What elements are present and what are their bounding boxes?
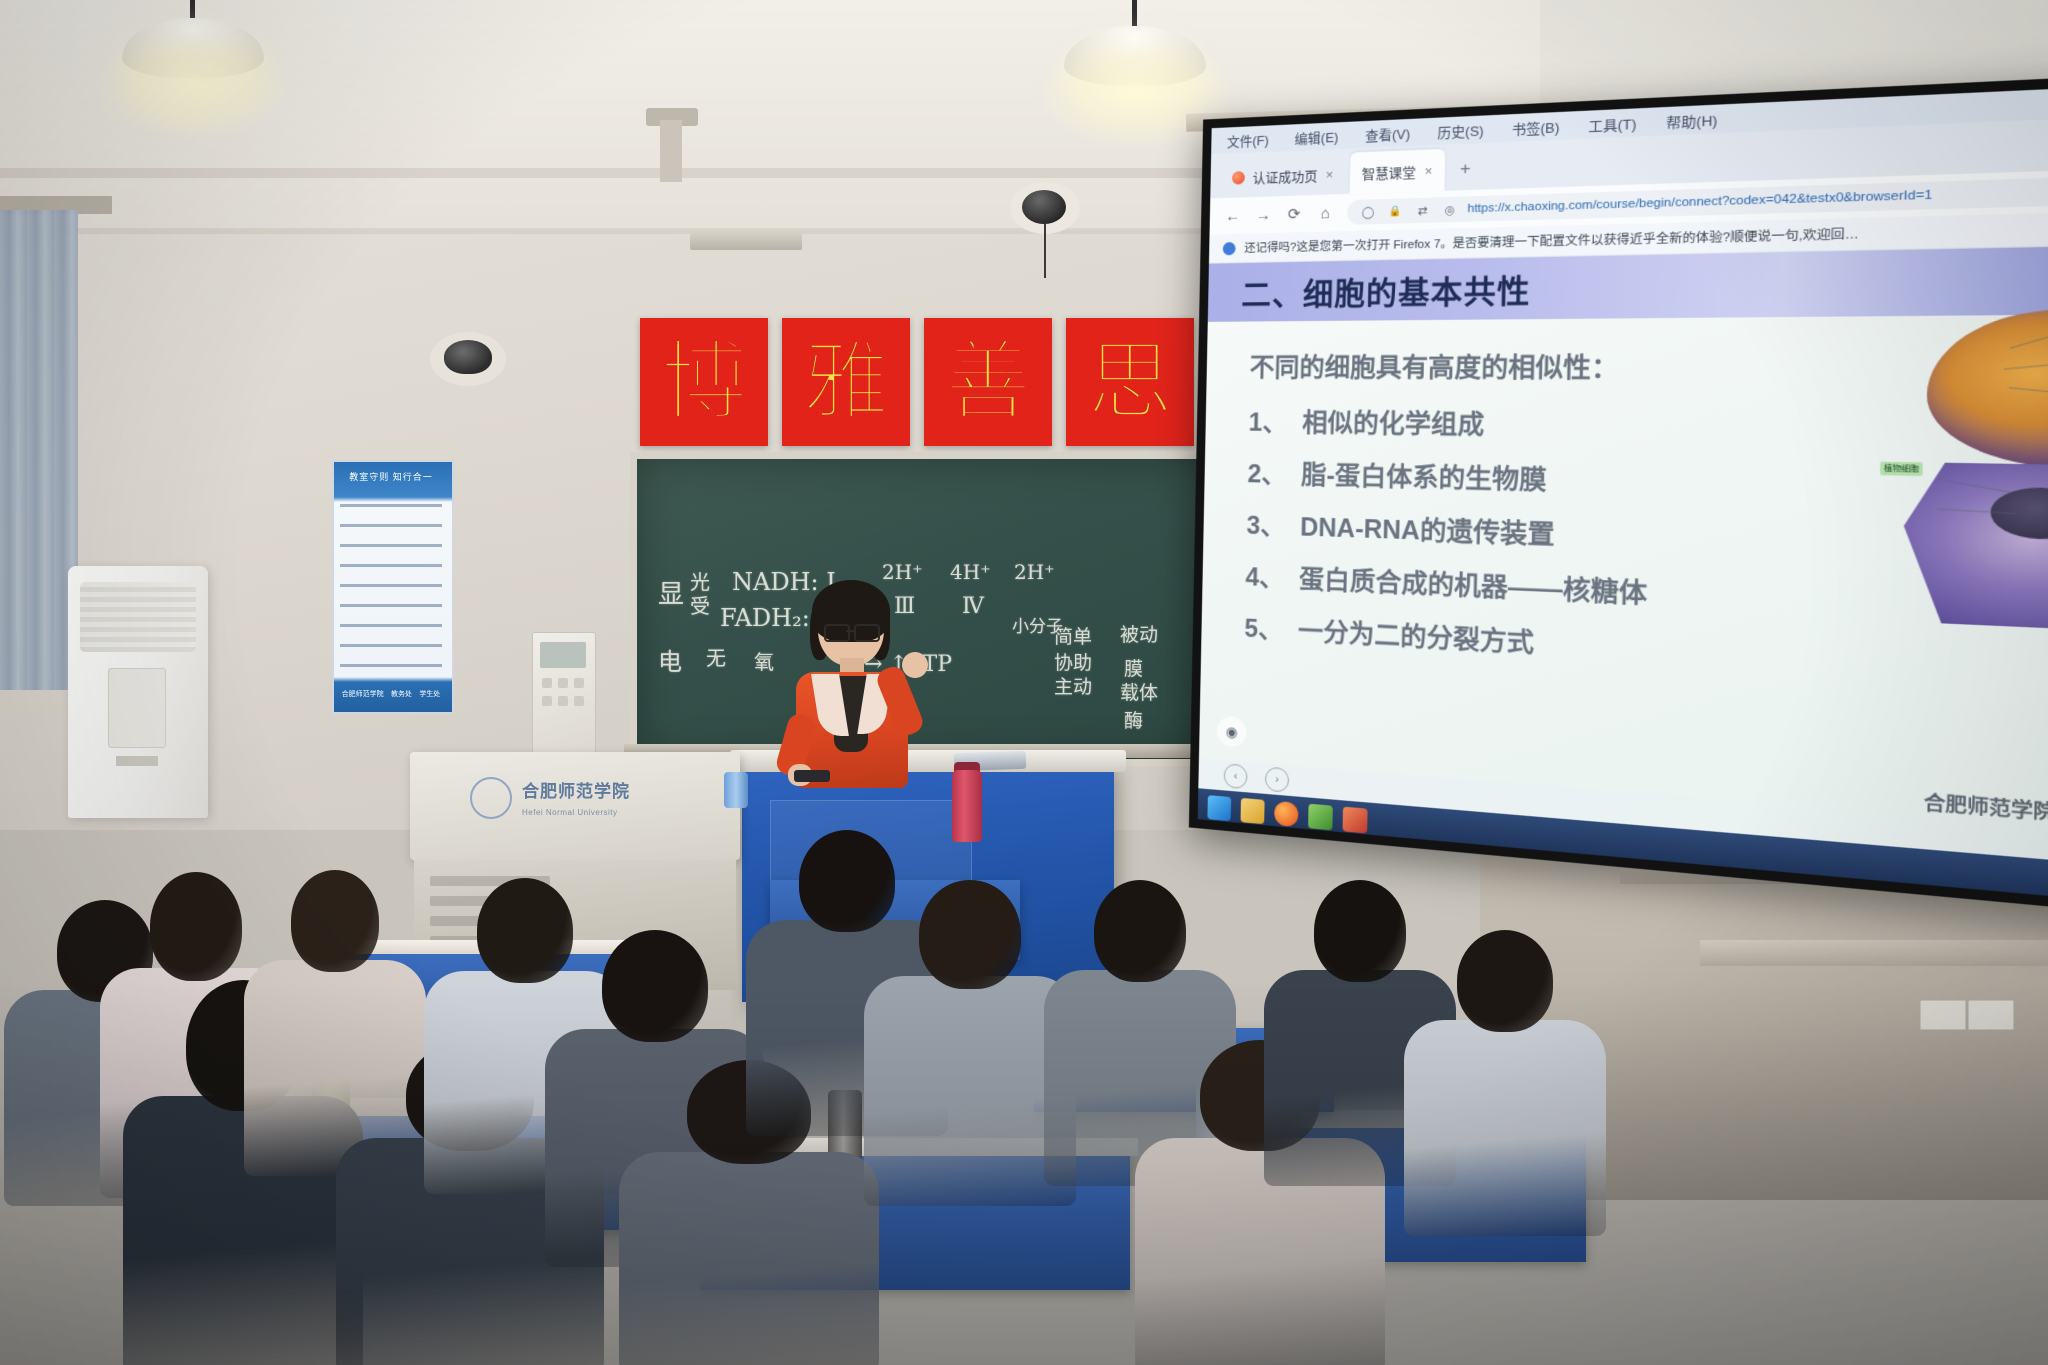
slide-title: 二、细胞的基本共性 (1241, 265, 1531, 315)
student-14-torso (1404, 1020, 1606, 1236)
tab-close-icon[interactable]: × (1325, 166, 1333, 182)
tab-close-active-icon[interactable]: × (1424, 162, 1432, 178)
banner-char-4: 思 (1066, 318, 1194, 446)
cell-label-plant: 植物细胞 (1880, 462, 1923, 476)
menu-bookmarks[interactable]: 书签(B) (1512, 116, 1560, 138)
banner-char-4-text: 思 (1087, 339, 1173, 425)
slide-bullet-1-num: 1、 (1248, 402, 1292, 439)
slide-next-icon[interactable]: › (1265, 767, 1289, 793)
ceiling-conduit (660, 120, 682, 182)
poster-title: 教室守则 知行合一 (338, 466, 444, 488)
blackboard (630, 452, 1264, 766)
teacher-glasses-left (824, 624, 850, 642)
security-camera-right-icon (1022, 190, 1066, 224)
lamp-glow-left (96, 30, 292, 140)
media-icon[interactable] (1308, 804, 1333, 831)
reader-mode-icon[interactable]: ⇄ (1412, 200, 1432, 220)
presenter-clicker[interactable] (794, 770, 830, 782)
student-4-head (291, 870, 378, 972)
camera-wire (1044, 224, 1046, 278)
ac-control-panel[interactable] (108, 668, 166, 748)
window-curtain (0, 210, 78, 690)
slide-bullet-4-text: 蛋白质合成的机器——核糖体 (1299, 559, 1648, 611)
info-icon (1223, 241, 1236, 254)
tab-favicon-icon (1232, 171, 1245, 185)
slide-bullet-5-num: 5、 (1244, 608, 1288, 647)
tab-zhihuiketang-label: 智慧课堂 (1362, 161, 1416, 183)
banner-boya-shansi: 博 雅 善 思 (640, 318, 1200, 450)
teacher-glasses-bridge (846, 630, 854, 632)
red-thermos-bottle (952, 770, 982, 842)
slide-prev-icon[interactable]: ‹ (1224, 763, 1248, 789)
console-university-logo: 合肥师范学院 Hefei Normal University (470, 772, 650, 824)
student-11-head (1094, 880, 1186, 982)
student-7-head (602, 930, 708, 1042)
menu-file[interactable]: 文件(F) (1227, 129, 1269, 150)
menu-view[interactable]: 查看(V) (1365, 123, 1410, 145)
menu-help[interactable]: 帮助(H) (1666, 108, 1718, 131)
slide-bullet-1-text: 相似的化学组成 (1302, 403, 1485, 442)
banner-char-1: 博 (640, 318, 768, 446)
reload-icon[interactable]: ⟳ (1284, 204, 1303, 224)
av-control-display (540, 642, 586, 668)
wall-outlet-1[interactable] (1920, 1000, 1966, 1030)
student-2-head (150, 872, 242, 981)
banner-char-2: 雅 (782, 318, 910, 446)
desk-cup (724, 772, 748, 808)
banner-char-2-text: 雅 (803, 339, 889, 425)
slide-bullet-2-text: 脂-蛋白体系的生物膜 (1301, 455, 1547, 498)
pocket-icon[interactable]: ◎ (1440, 199, 1461, 220)
ceiling-vent (690, 232, 802, 250)
new-tab-button[interactable]: + (1449, 158, 1481, 180)
tab-renzheng[interactable]: 认证成功页 × (1220, 153, 1346, 198)
banner-char-3: 善 (924, 318, 1052, 446)
student-8-torso (619, 1152, 878, 1365)
menu-tools[interactable]: 工具(T) (1588, 112, 1637, 135)
console-logo-cn: 合肥师范学院 (522, 782, 630, 801)
slide-bullet-4-num: 4、 (1245, 557, 1289, 595)
teacher-raised-hand (902, 652, 928, 678)
shield-icon[interactable]: ◯ (1358, 202, 1378, 222)
cell-diagram-figure: 动物细胞 植物细胞 (1876, 303, 2048, 666)
firefox-icon[interactable] (1274, 801, 1298, 827)
poster-footer: 合肥师范学院 教务处 学生处 (338, 684, 444, 704)
presentation-slide: 二、细胞的基本共性 不同的细胞具有高度的相似性： 1、 相似的化学组成 2、 脂… (1198, 242, 2048, 878)
student-13-head (1314, 880, 1406, 982)
console-logo-en: Hefei Normal University (522, 808, 618, 817)
wall-poster (332, 460, 454, 714)
start-icon[interactable] (1207, 795, 1231, 821)
ac-badge (116, 756, 158, 766)
tab-renzheng-label: 认证成功页 (1252, 165, 1317, 187)
menu-history[interactable]: 历史(S) (1437, 119, 1484, 141)
slide-bullet-2-num: 2、 (1247, 454, 1291, 491)
poster-footer-3: 学生处 (419, 689, 440, 699)
projection-screen: 文件(F) 编辑(E) 查看(V) 历史(S) 书签(B) 工具(T) 帮助(H… (1189, 66, 2048, 928)
url-text: https://x.chaoxing.com/course/begin/conn… (1467, 189, 1932, 216)
poster-footer-2: 教务处 (391, 689, 412, 699)
student-14-head (1457, 930, 1554, 1032)
slide-bullet-5-text: 一分为二的分裂方式 (1298, 611, 1535, 661)
banner-char-3-text: 善 (945, 339, 1031, 425)
university-seal-icon (470, 777, 512, 819)
security-camera-icon (444, 340, 492, 374)
slide-bullet-3-text: DNA-RNA的遗传装置 (1300, 507, 1555, 553)
wall-outlet-2[interactable] (1968, 1000, 2014, 1030)
banner-char-1-text: 博 (661, 339, 747, 425)
powerpoint-icon[interactable] (1343, 807, 1368, 834)
teacher-figure (770, 588, 940, 788)
student-14 (1400, 930, 1610, 1230)
slide-bullet-3-num: 3、 (1246, 505, 1290, 543)
floor-step-lower (1700, 940, 2048, 966)
teacher-glasses-right (854, 624, 880, 642)
projected-desktop: 文件(F) 编辑(E) 查看(V) 历史(S) 书签(B) 工具(T) 帮助(H… (1198, 78, 2048, 916)
forward-icon[interactable]: → (1254, 205, 1273, 225)
back-icon[interactable]: ← (1223, 206, 1242, 226)
home-icon[interactable]: ⌂ (1316, 203, 1336, 223)
classroom-screenshot: 博 雅 善 思 教室守则 知行合一 合肥师范学院 教务处 学生处 显光受NADH… (0, 0, 2048, 1365)
folder-icon[interactable] (1241, 798, 1265, 824)
poster-footer-1: 合肥师范学院 (342, 689, 384, 699)
student-10-head (919, 880, 1020, 989)
tab-zhihuiketang[interactable]: 智慧课堂 × (1349, 149, 1445, 194)
menu-edit[interactable]: 编辑(E) (1295, 126, 1339, 147)
lock-icon[interactable]: 🔒 (1385, 201, 1405, 221)
ac-grille (80, 582, 196, 652)
